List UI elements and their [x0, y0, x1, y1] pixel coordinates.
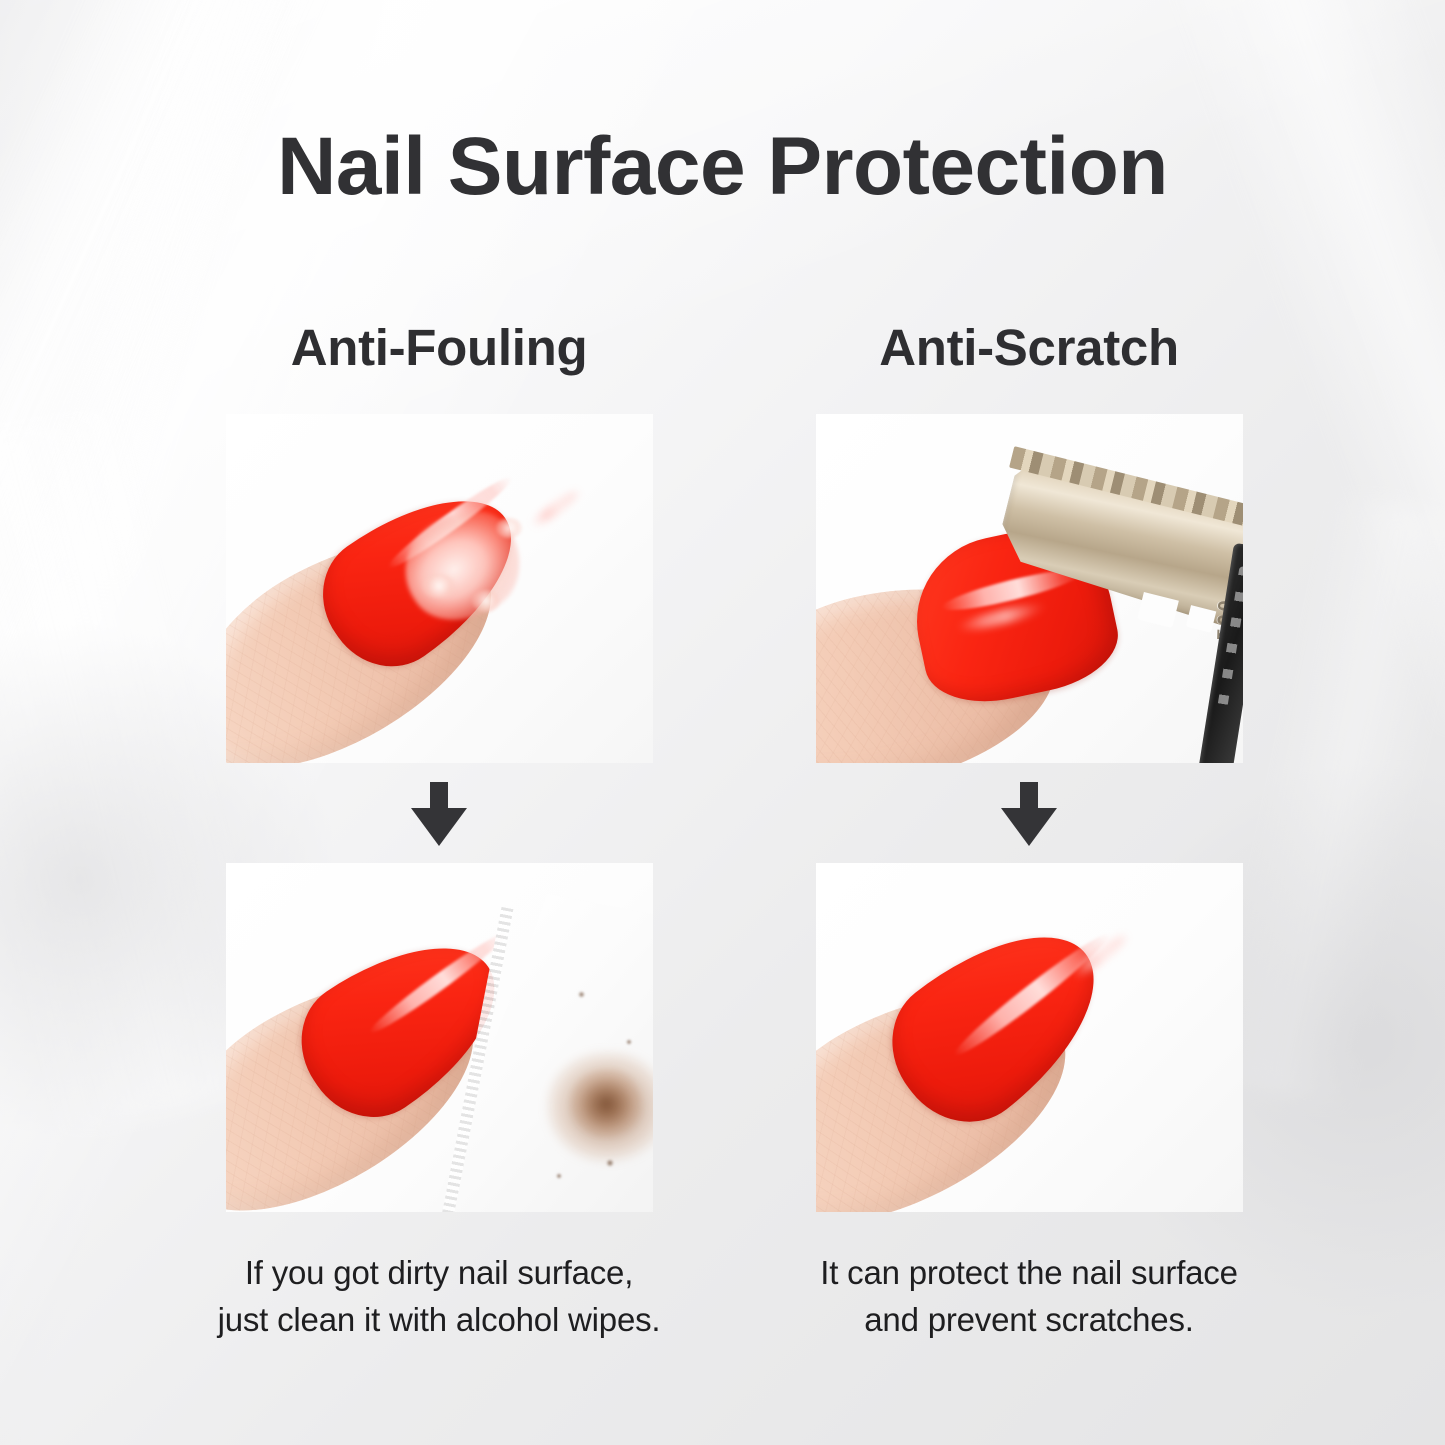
arrow-down-icon — [1001, 782, 1057, 844]
photo-cleaned-nail-with-wipe — [226, 863, 653, 1212]
photo-dirty-nail — [226, 414, 653, 763]
caption-anti-fouling: If you got dirty nail surface, just clea… — [204, 1250, 674, 1344]
section-heading-anti-scratch: Anti-Scratch — [794, 318, 1264, 390]
page-title: Nail Surface Protection — [0, 124, 1445, 210]
dirt-fleck — [556, 1173, 562, 1179]
poster-root: Nail Surface Protection Anti-Fouling — [0, 0, 1445, 1445]
nail-stain-speck — [496, 518, 522, 538]
photo-unscratched-nail — [816, 863, 1243, 1212]
section-anti-fouling: Anti-Fouling — [204, 318, 674, 1344]
caption-line: If you got dirty nail surface, — [204, 1250, 674, 1297]
caption-line: It can protect the nail surface — [794, 1250, 1264, 1297]
caption-line: just clean it with alcohol wipes. — [204, 1297, 674, 1344]
nail-stain-speck — [422, 574, 456, 598]
caption-line: and prevent scratches. — [794, 1297, 1264, 1344]
arrow-head — [1001, 808, 1057, 846]
section-heading-anti-fouling: Anti-Fouling — [204, 318, 674, 390]
dirt-fleck — [606, 1159, 614, 1167]
arrow-down-icon — [411, 782, 467, 844]
nail-stain-speck — [472, 590, 500, 612]
caption-anti-scratch: It can protect the nail surface and prev… — [794, 1250, 1264, 1344]
dirt-fleck — [578, 991, 585, 998]
dirt-fleck — [626, 1039, 632, 1045]
arrow-down-icon-wrap — [204, 763, 674, 863]
arrow-head — [411, 808, 467, 846]
arrow-down-icon-wrap — [794, 763, 1264, 863]
photo-key-scratching-nail: 001 — [816, 414, 1243, 763]
dirt-smudge-on-wipe — [570, 1069, 642, 1137]
section-anti-scratch: Anti-Scratch 001 — [794, 318, 1264, 1344]
